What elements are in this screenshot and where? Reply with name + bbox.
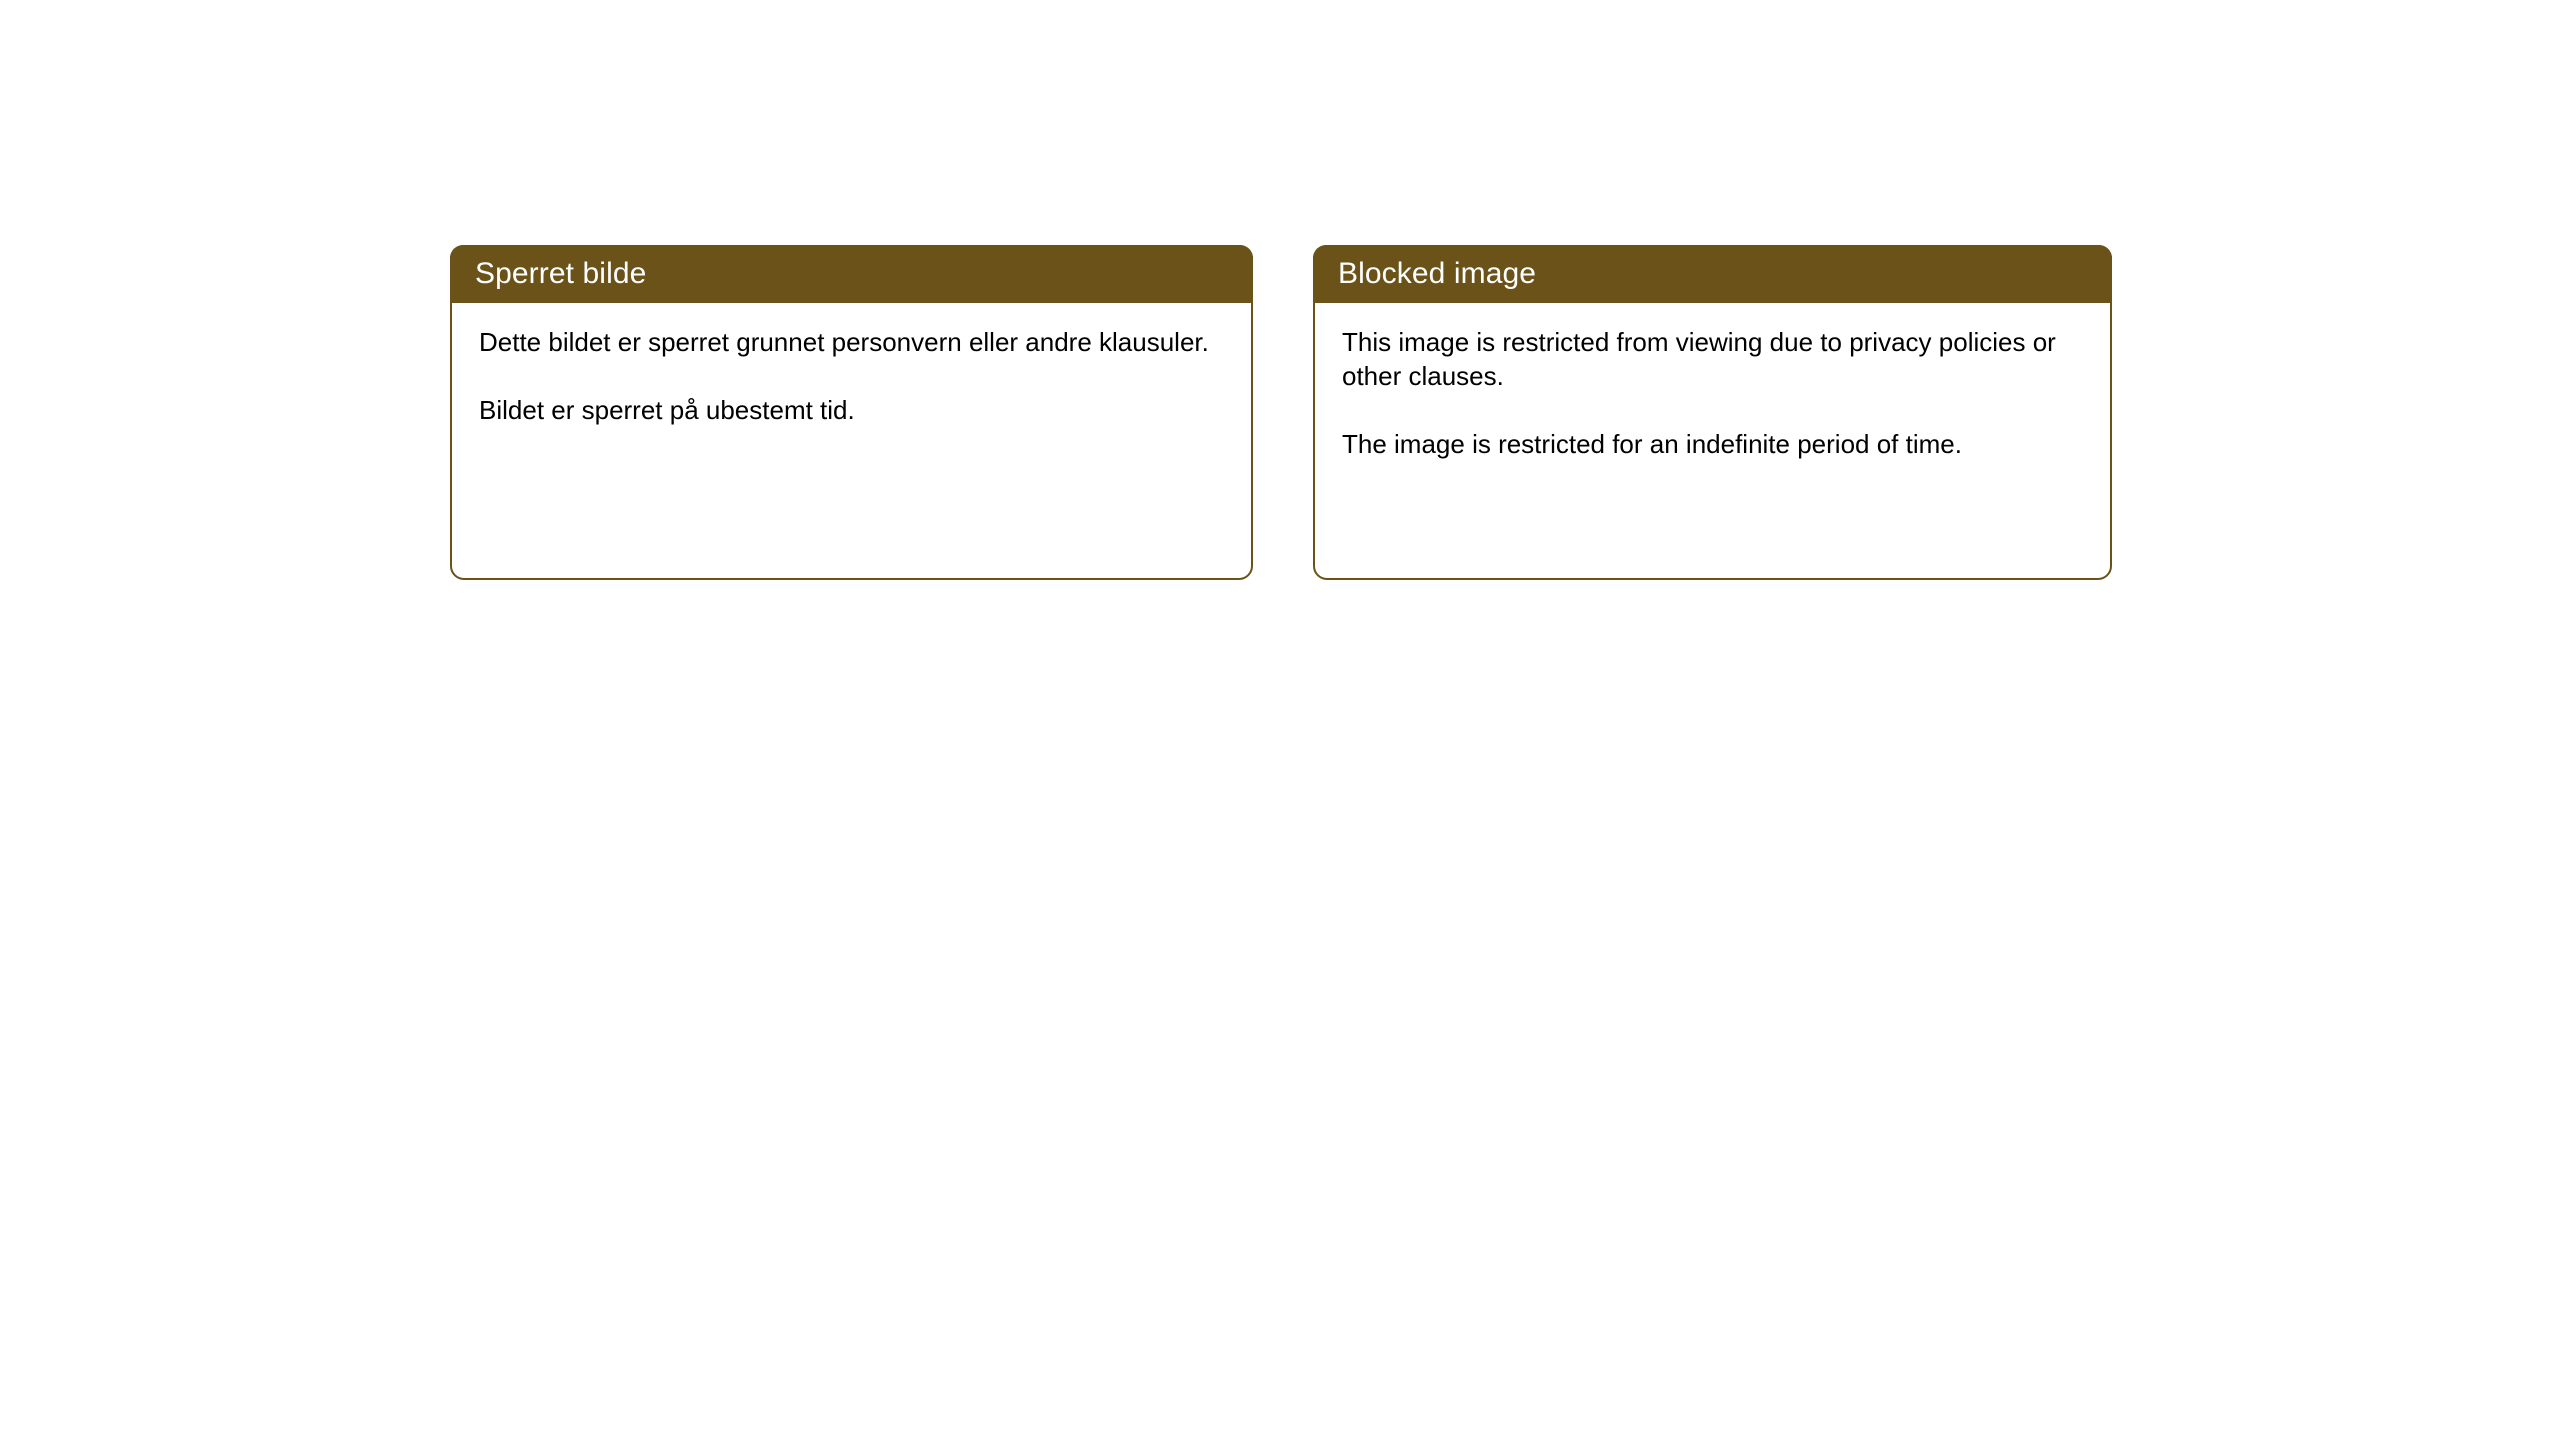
card-header: Blocked image xyxy=(1313,245,2112,303)
card-title: Sperret bilde xyxy=(475,259,646,289)
notice-paragraph-1: Dette bildet er sperret grunnet personve… xyxy=(479,325,1225,359)
card-header: Sperret bilde xyxy=(450,245,1253,303)
notice-paragraph-2: The image is restricted for an indefinit… xyxy=(1342,427,2084,461)
card-body: This image is restricted from viewing du… xyxy=(1315,303,2110,461)
notice-paragraph-2: Bildet er sperret på ubestemt tid. xyxy=(479,393,1225,427)
card-body: Dette bildet er sperret grunnet personve… xyxy=(452,303,1251,427)
card-title: Blocked image xyxy=(1338,259,1536,289)
notice-paragraph-1: This image is restricted from viewing du… xyxy=(1342,325,2084,393)
blocked-image-notice-card-english: Blocked image This image is restricted f… xyxy=(1313,245,2112,580)
page-canvas: Sperret bilde Dette bildet er sperret gr… xyxy=(0,0,2560,1440)
blocked-image-notice-card-norwegian: Sperret bilde Dette bildet er sperret gr… xyxy=(450,245,1253,580)
